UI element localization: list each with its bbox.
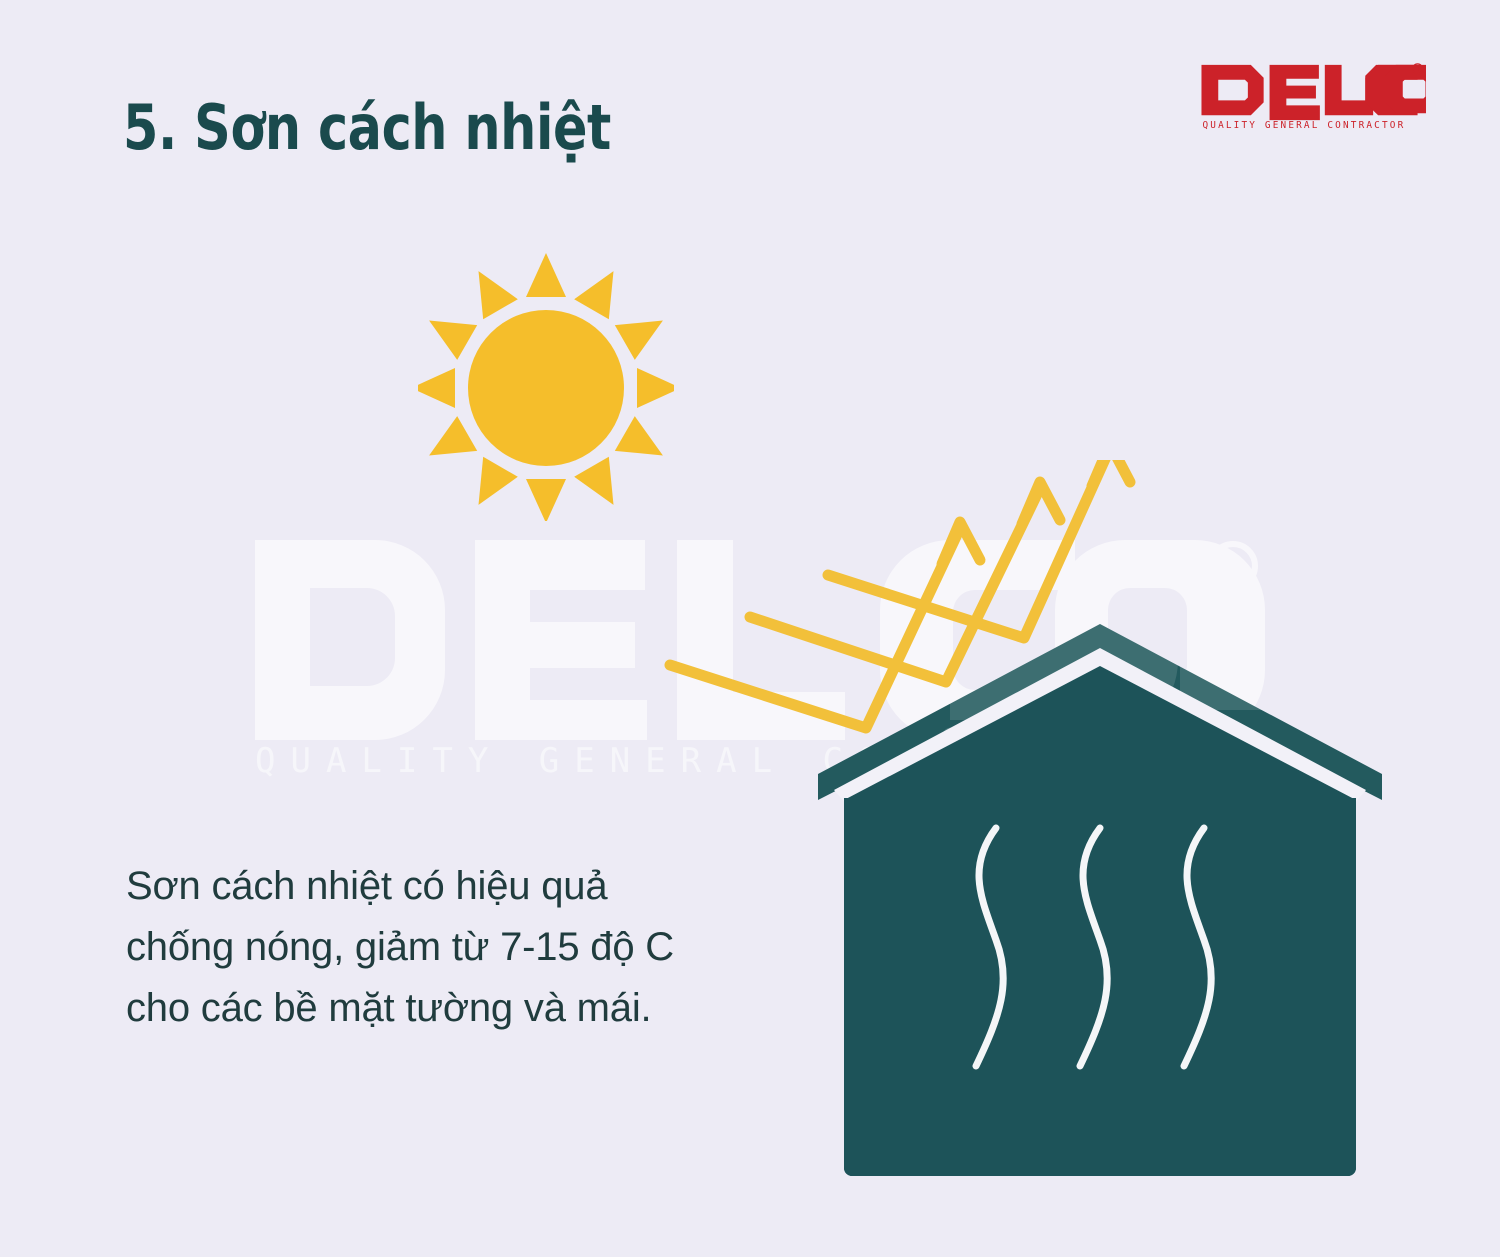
caption-line-2: chống nóng, giảm từ 7-15 độ C (126, 917, 766, 978)
infographic-slide: R QUALITY GENERAL CONTRACTOR 5. Sơn cách… (0, 0, 1500, 1257)
caption-line-3: cho các bề mặt tường và mái. (126, 978, 766, 1039)
page-title: 5. Sơn cách nhiệt (123, 97, 611, 159)
delco-logo: R QUALITY GENERAL CONTRACTOR (1196, 58, 1426, 132)
caption-text: Sơn cách nhiệt có hiệu quả chống nóng, g… (126, 856, 766, 1038)
svg-text:R: R (1224, 552, 1242, 582)
svg-text:R: R (1416, 67, 1420, 73)
caption-line-1: Sơn cách nhiệt có hiệu quả (126, 856, 766, 917)
brand-tagline: QUALITY GENERAL CONTRACTOR (1202, 120, 1405, 131)
reflected-rays (640, 460, 1160, 760)
sun-icon (418, 253, 674, 521)
